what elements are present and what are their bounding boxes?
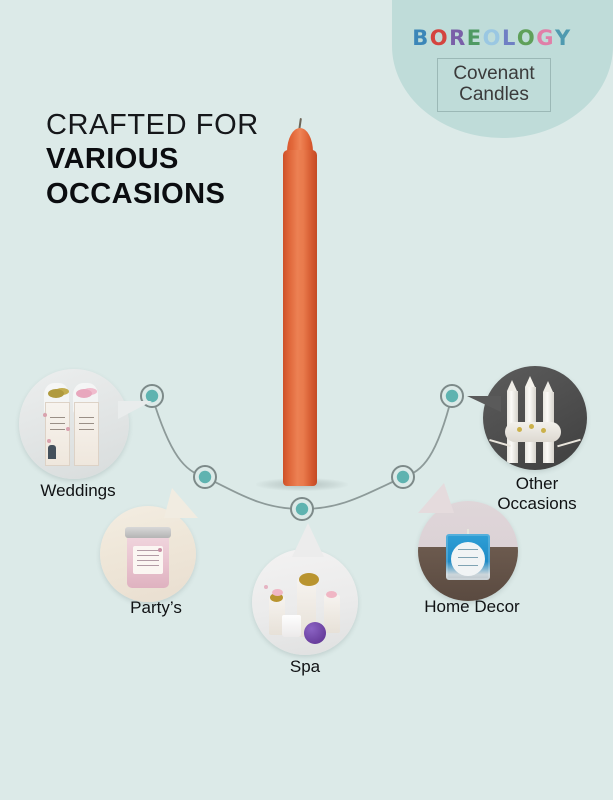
- node-home-decor[interactable]: [392, 466, 414, 488]
- brand-logo-letter-7: G: [536, 26, 555, 50]
- category-bubble-spa[interactable]: Spa: [246, 533, 372, 683]
- headline-line3: OCCASIONS: [46, 177, 259, 212]
- brand-logo-letter-8: Y: [555, 26, 572, 50]
- bubble-tail-other-occasions: [467, 396, 501, 424]
- node-partys[interactable]: [194, 466, 216, 488]
- brand-logo-letter-0: B: [412, 26, 430, 50]
- category-photo-weddings: [19, 369, 129, 479]
- brand-subtitle-line1: Covenant: [444, 63, 544, 84]
- category-label-home-decor: Home Decor: [400, 597, 544, 617]
- brand-logo-letter-4: O: [483, 26, 502, 50]
- candle-body: [283, 150, 317, 486]
- headline-line2: VARIOUS: [46, 142, 259, 177]
- category-photo-spa: [252, 549, 358, 655]
- bubble-tail-home-decor: [418, 483, 454, 513]
- brand-logo-letter-5: L: [502, 26, 517, 50]
- bubble-tail-weddings: [118, 401, 152, 429]
- headline-line1: CRAFTED FOR: [46, 108, 259, 142]
- category-label-partys: Party’s: [94, 598, 218, 618]
- brand-logo-letter-3: E: [467, 26, 483, 50]
- brand-subtitle-line2: Candles: [444, 84, 544, 105]
- brand-logo-letter-1: O: [430, 26, 449, 50]
- orange-taper-candle: [279, 118, 323, 488]
- brand-logo: BOREOLOGY: [392, 26, 592, 50]
- category-bubble-weddings[interactable]: Weddings: [14, 369, 142, 497]
- headline-block: CRAFTED FOR VARIOUS OCCASIONS: [46, 108, 259, 212]
- category-bubble-other-occasions[interactable]: Other Occasions: [471, 366, 605, 514]
- infographic-canvas: BOREOLOGY Covenant Candles CRAFTED FOR V…: [0, 0, 613, 800]
- brand-logo-letter-6: O: [517, 26, 536, 50]
- node-other-occasions[interactable]: [441, 385, 463, 407]
- category-photo-partys: [100, 506, 196, 602]
- category-label-spa: Spa: [246, 657, 364, 677]
- category-label-other-occasions: Other Occasions: [467, 474, 607, 514]
- brand-subtitle-box: Covenant Candles: [437, 58, 551, 112]
- category-photo-home-decor: [418, 501, 518, 601]
- category-bubble-partys[interactable]: Party’s: [98, 494, 214, 624]
- bubble-tail-partys: [164, 488, 198, 518]
- bubble-tail-spa: [292, 523, 324, 557]
- node-spa[interactable]: [291, 498, 313, 520]
- brand-logo-letter-2: R: [449, 26, 467, 50]
